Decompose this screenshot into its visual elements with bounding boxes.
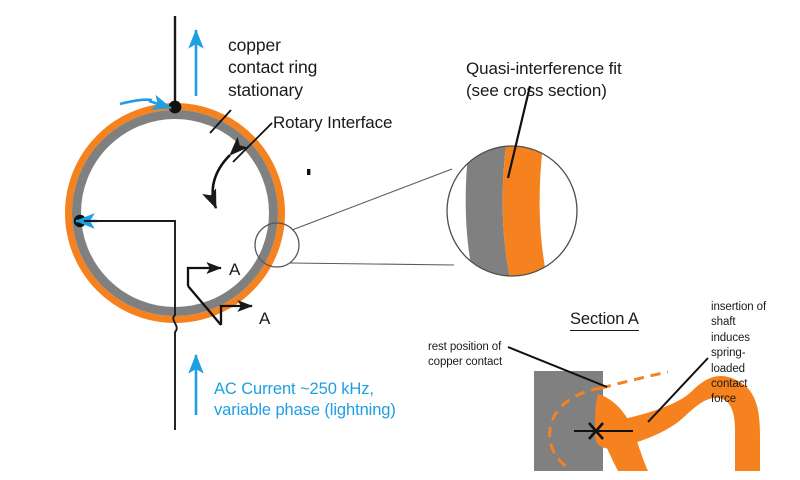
top-lead-group	[120, 16, 196, 113]
label-copper-contact-ring: copper contact ring stationary	[228, 34, 317, 101]
magnifier-leader-lower	[290, 263, 454, 265]
left-lead-wire	[84, 221, 177, 430]
label-section-marker-a-lower: A	[259, 308, 270, 330]
label-quasi-interference-fit: Quasi-interference fit (see cross sectio…	[466, 58, 622, 102]
label-ac-current: AC Current ~250 kHz, variable phase (lig…	[214, 379, 396, 421]
diagram-artwork	[0, 0, 800, 480]
shaft-block	[534, 371, 603, 471]
magnified-orange-band	[503, 145, 549, 288]
section-arrow-a-upper	[188, 268, 221, 286]
label-rest-position-of-copper-contact: rest position of copper contact	[428, 340, 502, 369]
section-a-title-text: Section A	[570, 310, 639, 331]
center-period-dot	[307, 169, 310, 175]
label-insertion-of-shaft-force: insertion of shaft induces spring- loade…	[711, 300, 766, 408]
label-section-a-title: Section A	[570, 309, 639, 330]
magnified-detail-group	[447, 86, 577, 288]
rotation-double-arrow	[213, 155, 230, 208]
diagram-canvas: copper contact ring stationary Rotary In…	[0, 0, 800, 480]
magnifier-leader-upper	[292, 169, 452, 230]
label-rotary-interface: Rotary Interface	[273, 112, 392, 134]
rest-position-dashed-top	[601, 372, 668, 388]
top-contact-blue-arrow-tail	[120, 100, 152, 104]
label-section-marker-a-upper: A	[229, 259, 240, 281]
